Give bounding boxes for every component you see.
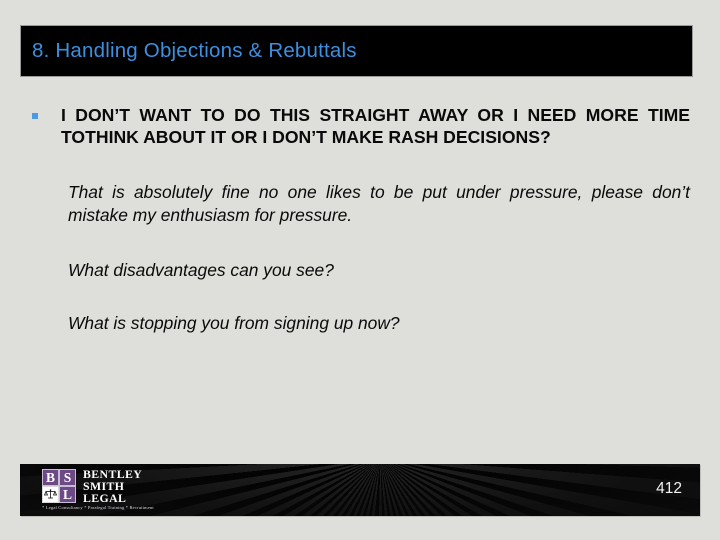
logo-letter-l: L	[59, 486, 76, 503]
logo-tagline: * Legal Consultancy * Paralegal Training…	[42, 505, 154, 510]
rebuttal-paragraph-1: That is absolutely fine no one likes to …	[30, 181, 690, 226]
rebuttal-paragraph-3: What is stopping you from signing up now…	[30, 312, 690, 335]
slide-canvas: 8. Handling Objections & Rebuttals I DON…	[0, 0, 720, 540]
objection-headline: I DON’T WANT TO DO THIS STRAIGHT AWAY OR…	[61, 104, 690, 148]
logo-mark: B S L	[42, 469, 76, 503]
logo-wordmark: BENTLEY SMITH LEGAL	[83, 468, 142, 504]
bullet-list-item: I DON’T WANT TO DO THIS STRAIGHT AWAY OR…	[30, 104, 690, 148]
page-number: 412	[656, 480, 682, 498]
scales-of-justice-icon	[42, 486, 59, 503]
logo-letter-b: B	[42, 469, 59, 486]
logo-word-legal: LEGAL	[83, 492, 142, 504]
slide-title-bar: 8. Handling Objections & Rebuttals	[20, 25, 693, 77]
rebuttal-paragraph-2: What disadvantages can you see?	[30, 259, 690, 282]
logo-letter-s: S	[59, 469, 76, 486]
square-bullet-icon	[32, 113, 38, 119]
page-title: 8. Handling Objections & Rebuttals	[21, 39, 357, 63]
bentley-smith-legal-logo: B S L B	[42, 468, 142, 504]
slide-body: I DON’T WANT TO DO THIS STRAIGHT AWAY OR…	[30, 104, 690, 335]
slide-footer: B S L B	[20, 464, 700, 516]
